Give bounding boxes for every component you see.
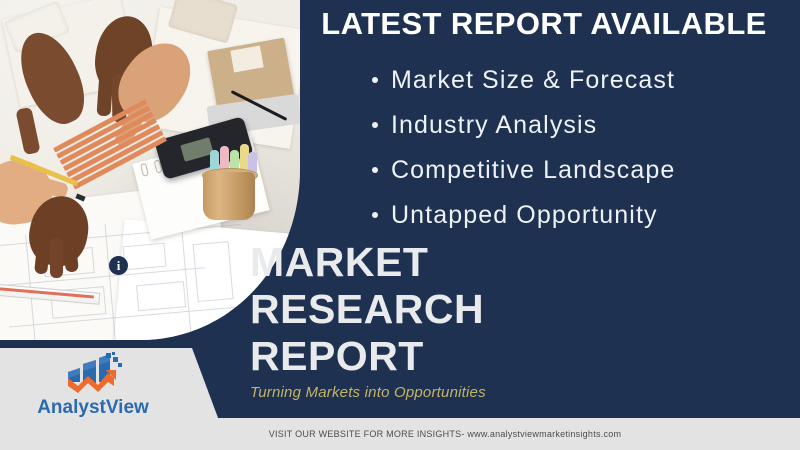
title-line: REPORT: [250, 333, 486, 380]
feature-bullet-list: Market Size & Forecast Industry Analysis…: [372, 58, 792, 238]
info-icon[interactable]: i: [109, 256, 128, 275]
poster-title-block: MARKET RESEARCH REPORT Turning Markets i…: [250, 239, 486, 401]
bullet-item: Market Size & Forecast: [372, 58, 792, 103]
bullet-dot-icon: [372, 77, 378, 83]
bullet-dot-icon: [372, 122, 378, 128]
wooden-pen-cup: [203, 172, 255, 220]
bullet-label: Competitive Landscape: [391, 156, 675, 184]
poster-headline: LATEST REPORT AVAILABLE: [296, 6, 792, 42]
bullet-label: Untapped Opportunity: [391, 201, 658, 229]
logo-name: AnalystView: [8, 398, 178, 418]
finger: [15, 107, 40, 155]
bullet-label: Market Size & Forecast: [391, 66, 675, 94]
title-line: MARKET: [250, 239, 486, 286]
poster-tagline: Turning Markets into Opportunities: [250, 384, 486, 401]
bullet-dot-icon: [372, 212, 378, 218]
bullet-item: Competitive Landscape: [372, 148, 792, 193]
footer-website-text: VISIT OUR WEBSITE FOR MORE INSIGHTS- www…: [0, 418, 800, 450]
bar-chart-growth-icon: [62, 352, 124, 396]
bullet-label: Industry Analysis: [391, 111, 597, 139]
marketing-poster: i AnalystView Market Insights LATEST REP…: [0, 0, 800, 450]
bullet-item: Untapped Opportunity: [372, 193, 792, 238]
title-line: RESEARCH: [250, 286, 486, 333]
bullet-dot-icon: [372, 167, 378, 173]
bullet-item: Industry Analysis: [372, 103, 792, 148]
finger: [50, 238, 63, 278]
